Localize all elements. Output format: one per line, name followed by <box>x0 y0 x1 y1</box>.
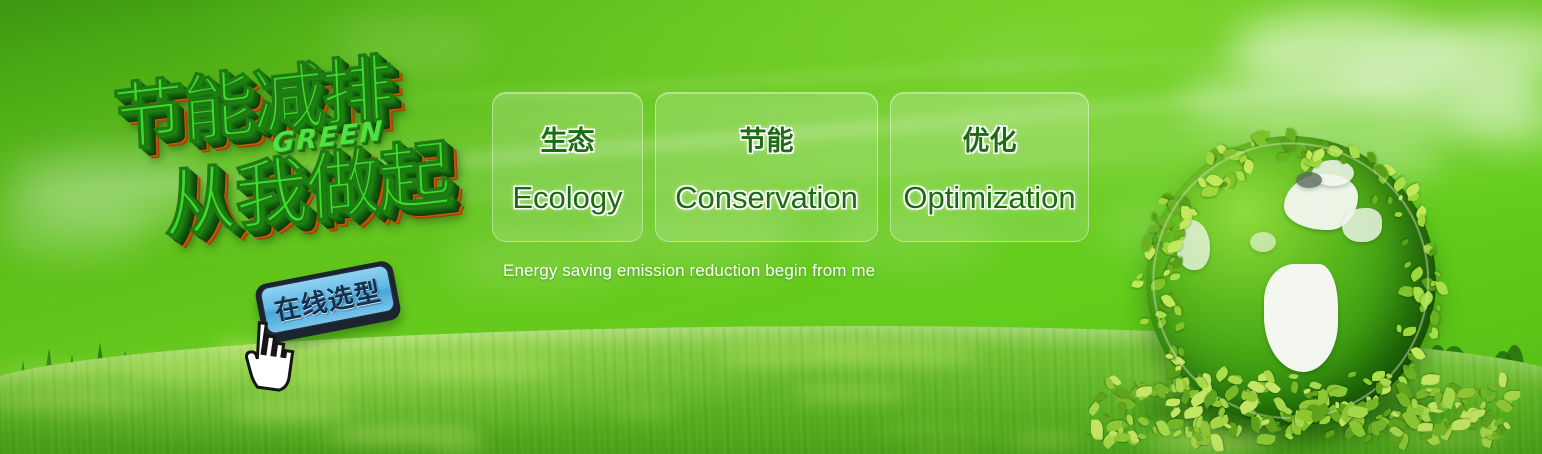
leaf-icon <box>1504 391 1520 401</box>
leaf-icon <box>1436 305 1440 311</box>
leaf-icon <box>1091 420 1103 440</box>
leaf-icon <box>1372 422 1380 435</box>
card-ecology-en: Ecology <box>512 180 622 216</box>
leaf-icon <box>1311 391 1319 396</box>
green-energy-banner: 节能减排 GREEN 从我做起 在线选型 生态 Ecology 节能 Conse… <box>0 0 1542 454</box>
card-ecology[interactable]: 生态 Ecology <box>492 92 643 242</box>
grass-highlight <box>0 392 150 408</box>
grass-highlight <box>1005 434 1084 446</box>
grass-highlight <box>113 359 249 379</box>
tagline-text: Energy saving emission reduction begin f… <box>503 261 875 281</box>
leaf-icon <box>1409 363 1415 368</box>
leaf-icon <box>1411 399 1417 409</box>
online-selection-button-label: 在线选型 <box>271 271 384 328</box>
leaf-icon <box>1251 417 1260 432</box>
hero-title-artwork: 节能减排 GREEN 从我做起 <box>96 38 496 268</box>
card-conservation-cn: 节能 <box>740 119 794 158</box>
card-optimization-cn: 优化 <box>963 119 1017 158</box>
leaf-icon <box>1367 152 1375 163</box>
leaf-icon <box>1334 402 1339 409</box>
leaf-icon <box>1117 402 1126 416</box>
grass-highlight <box>432 436 488 454</box>
hand-pointer-icon <box>230 316 301 408</box>
card-optimization[interactable]: 优化 Optimization <box>890 92 1089 242</box>
card-ecology-cn: 生态 <box>541 119 595 158</box>
grass-highlight <box>717 352 833 363</box>
grass-highlight <box>612 402 678 421</box>
green-earth-globe <box>1146 136 1436 426</box>
grass-highlight <box>876 425 1003 437</box>
grass-highlight <box>0 363 122 382</box>
leaf-icon <box>1481 388 1487 397</box>
card-optimization-en: Optimization <box>903 180 1075 216</box>
card-conservation[interactable]: 节能 Conservation <box>655 92 878 242</box>
leaf-icon <box>1497 427 1502 435</box>
feature-card-group: 生态 Ecology 节能 Conservation 优化 Optimizati… <box>492 92 1089 242</box>
card-conservation-en: Conservation <box>675 180 858 216</box>
